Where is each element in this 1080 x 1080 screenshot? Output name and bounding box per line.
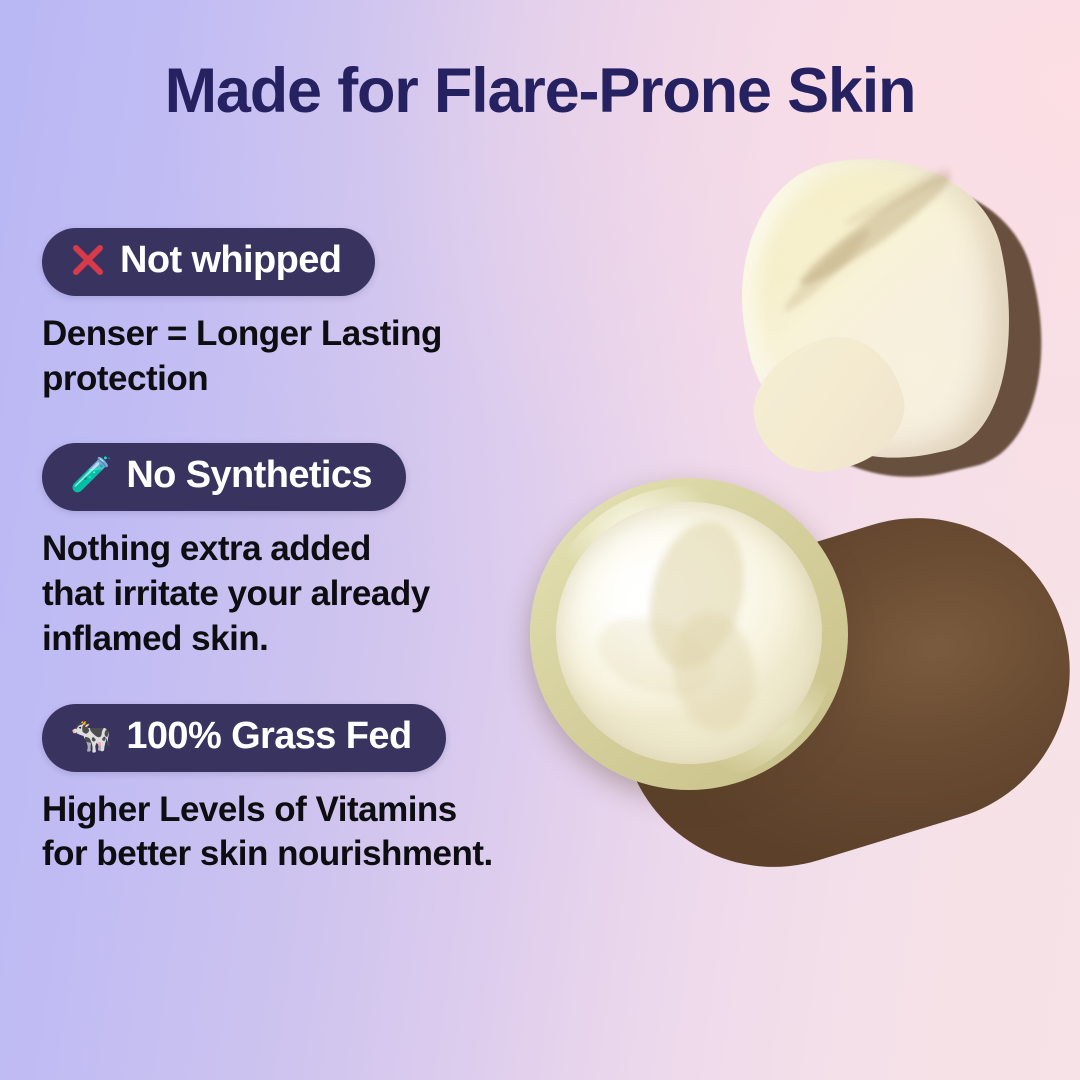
poster-canvas: Made for Flare-Prone Skin Not whipped De… (0, 0, 1080, 1080)
swatch-tail (740, 324, 917, 486)
feature-no-synthetics: 🧪 No Synthetics Nothing extra added that… (42, 443, 682, 661)
badge-label: Not whipped (120, 241, 341, 281)
badge-grass-fed[interactable]: 🐄 100% Grass Fed (42, 704, 446, 772)
red-x-icon (70, 242, 106, 278)
feature-not-whipped: Not whipped Denser = Longer Lasting prot… (42, 228, 682, 401)
swatch-shadow (741, 151, 1072, 504)
badge-label: No Synthetics (126, 456, 372, 496)
butter-cream-swatch (735, 150, 1065, 490)
feature-grass-fed: 🐄 100% Grass Fed Higher Levels of Vitami… (42, 704, 682, 877)
description-line: inflamed skin. (42, 617, 602, 662)
test-tube-icon: 🧪 (70, 458, 112, 492)
feature-description: Nothing extra added that irritate your a… (42, 527, 602, 661)
description-line: Nothing extra added (42, 527, 602, 572)
swatch-ridge (842, 162, 955, 231)
feature-description: Higher Levels of Vitamins for better ski… (42, 788, 602, 878)
badge-no-synthetics[interactable]: 🧪 No Synthetics (42, 443, 406, 511)
feature-description: Denser = Longer Lasting protection (42, 312, 602, 402)
swatch-ridge (793, 164, 959, 294)
feature-list: Not whipped Denser = Longer Lasting prot… (42, 228, 682, 877)
swatch-body (714, 131, 1040, 486)
page-title: Made for Flare-Prone Skin (0, 58, 1080, 124)
description-line: that irritate your already (42, 572, 602, 617)
badge-not-whipped[interactable]: Not whipped (42, 228, 375, 296)
description-line: Higher Levels of Vitamins (42, 788, 602, 833)
swatch-ridge (778, 223, 875, 317)
cow-icon: 🐄 (70, 719, 112, 753)
description-line: for better skin nourishment. (42, 832, 602, 877)
description-line: Denser = Longer Lasting (42, 312, 602, 357)
badge-label: 100% Grass Fed (126, 717, 411, 757)
description-line: protection (42, 357, 602, 402)
